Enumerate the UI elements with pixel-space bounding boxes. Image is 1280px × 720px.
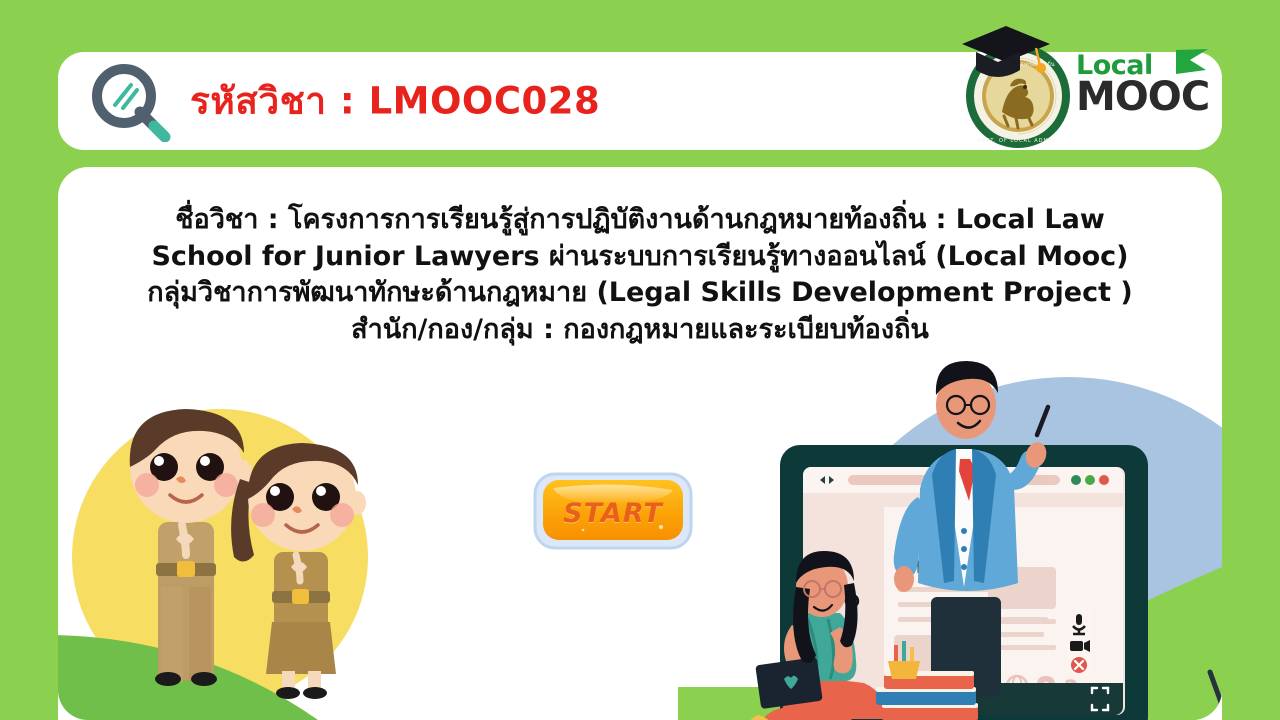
video-camera-icon xyxy=(1070,640,1090,652)
logo-mooc-text: MOOC xyxy=(1076,77,1206,117)
close-x-icon xyxy=(1071,657,1087,673)
page-title: รหัสวิชา : LMOOC028 xyxy=(190,72,600,131)
start-button-label: START xyxy=(533,474,693,552)
green-flag-icon xyxy=(1172,46,1212,76)
course-title-line-2: School for Junior Lawyers ผ่านระบบการเรี… xyxy=(68,239,1212,276)
course-title-line-4: สำนัก/กอง/กลุ่ม : กองกฎหมายและระเบียบท้อ… xyxy=(68,312,1212,349)
svg-text:DEPT. OF LOCAL ADMIN.: DEPT. OF LOCAL ADMIN. xyxy=(977,138,1058,144)
course-title-line-3: กลุ่มวิชาการพัฒนาทักษะด้านกฎหมาย (Legal … xyxy=(68,275,1212,312)
logo-wordmark: Local MOOC xyxy=(1076,52,1206,117)
main-content-card: LIVE ? xyxy=(58,167,1222,720)
start-button[interactable]: START xyxy=(533,472,693,550)
magnifier-icon xyxy=(88,62,178,142)
logo-mooc-letters: MOOC xyxy=(1076,74,1209,120)
header-card: รหัสวิชา : LMOOC028 กรมส่งเสริมการปกครอง… xyxy=(58,52,1222,150)
course-title-block: ชื่อวิชา : โครงการการเรียนรู้สู่การปฏิบั… xyxy=(58,202,1222,349)
book-stack xyxy=(876,671,978,720)
course-title-line-1: ชื่อวิชา : โครงการการเรียนรู้สู่การปฏิบั… xyxy=(68,202,1212,239)
graduation-cap-icon xyxy=(954,22,1062,84)
local-mooc-logo: กรมส่งเสริมการปกครองท้องถิ่น DEPT. OF LO… xyxy=(954,24,1204,150)
